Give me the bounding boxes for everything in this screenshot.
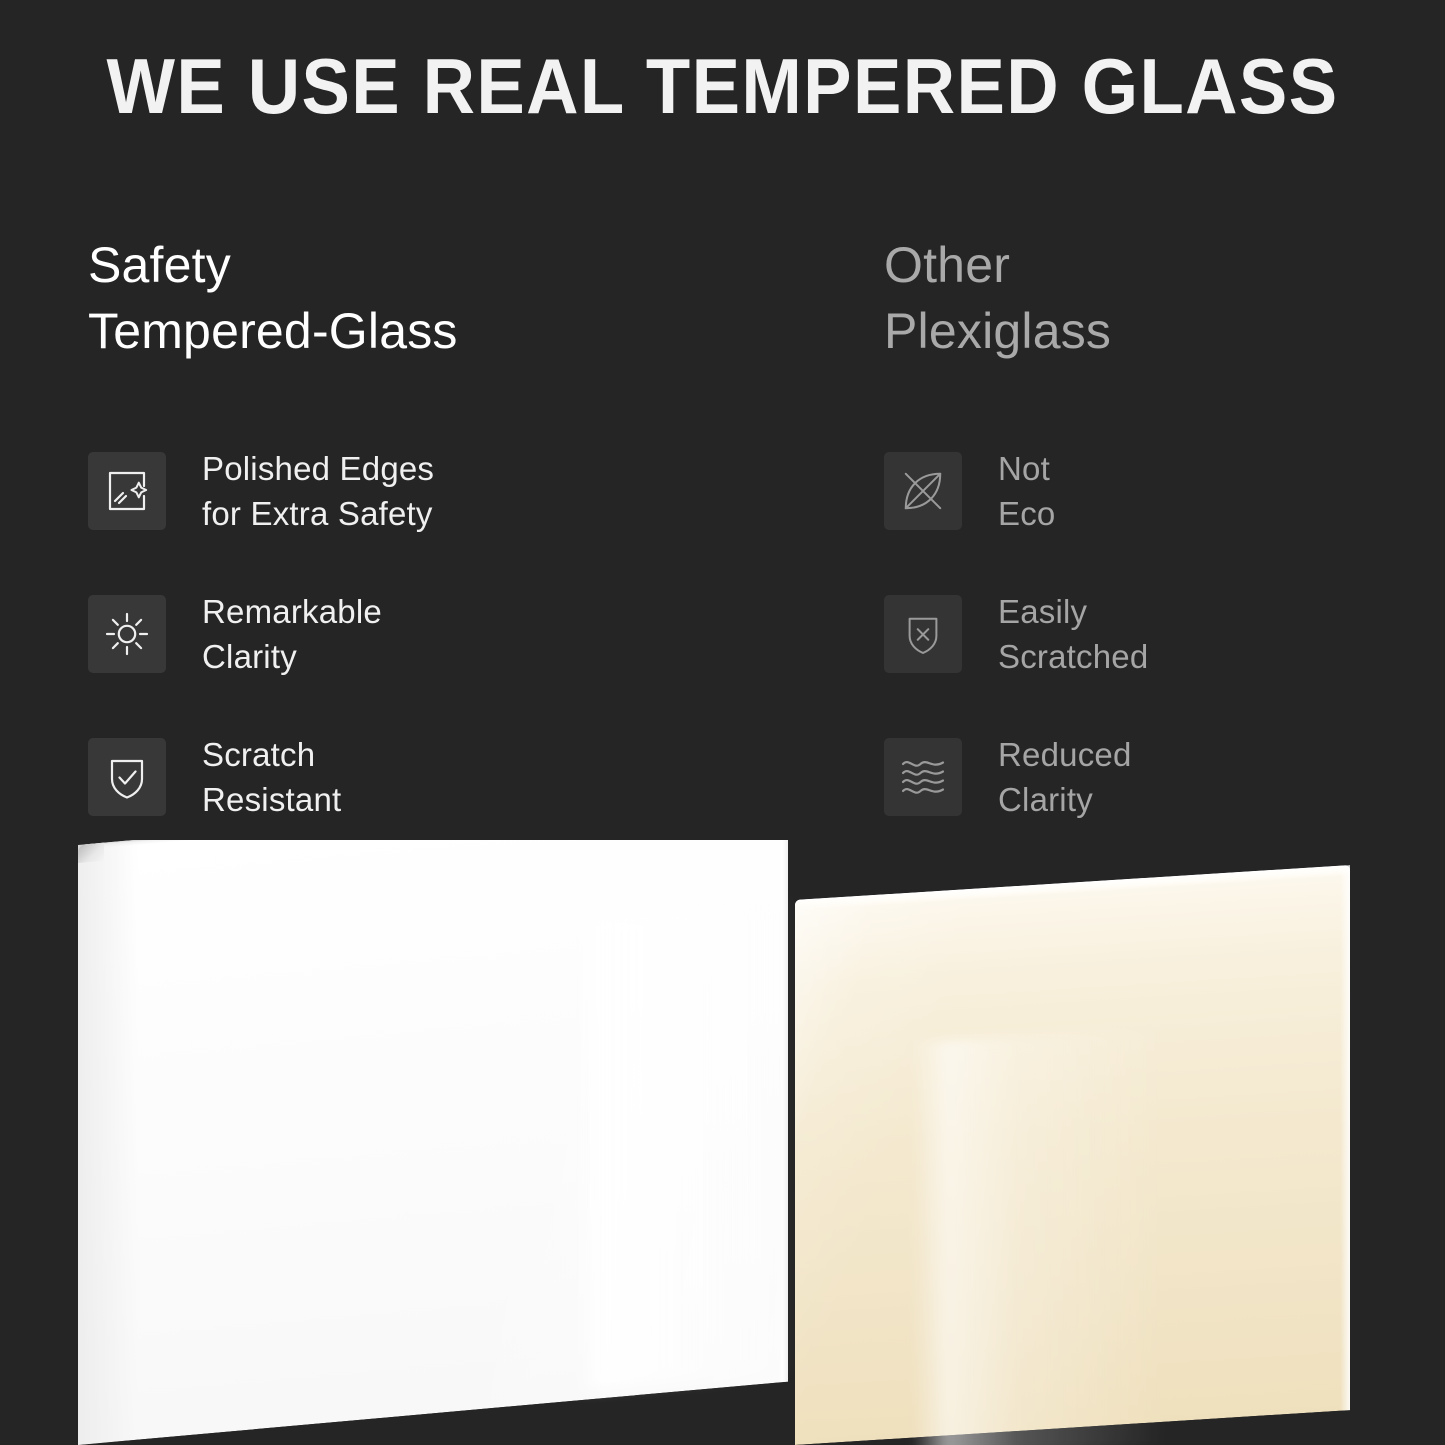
feature-label: Polished Edges for Extra Safety: [202, 446, 434, 536]
shield-x-icon: [884, 595, 962, 673]
leaf-crossed-out-icon: [884, 452, 962, 530]
wavy-lines-icon: [884, 738, 962, 816]
column-safety-tempered-glass: Safety Tempered-Glass Polished Edges for…: [88, 232, 808, 364]
column-heading-left: Safety Tempered-Glass: [88, 232, 808, 364]
feature-label: Reduced Clarity: [998, 732, 1132, 822]
feature-not-eco: Not Eco: [884, 452, 1148, 530]
feature-label: Remarkable Clarity: [202, 589, 382, 679]
feature-polished-edges: Polished Edges for Extra Safety: [88, 452, 434, 530]
shield-check-icon: [88, 738, 166, 816]
feature-reduced-clarity: Reduced Clarity: [884, 738, 1148, 816]
feature-list-right: Not Eco Easily Scratched: [884, 452, 1148, 816]
feature-label: Not Eco: [998, 446, 1055, 536]
glass-reflection: [578, 901, 790, 1390]
feature-remarkable-clarity: Remarkable Clarity: [88, 595, 434, 673]
glass-left-shading: [78, 840, 138, 1445]
page-title: WE USE REAL TEMPERED GLASS: [51, 38, 1395, 134]
feature-label: Easily Scratched: [998, 589, 1148, 679]
glass-corner-top-left: [78, 843, 104, 863]
feature-list-left: Polished Edges for Extra Safety: [88, 452, 434, 816]
column-heading-right: Other Plexiglass: [884, 232, 1424, 364]
plexiglass-reflection: [913, 1027, 1163, 1445]
feature-scratch-resistant: Scratch Resistant: [88, 738, 434, 816]
feature-label: Scratch Resistant: [202, 732, 341, 822]
sun-clarity-icon: [88, 595, 166, 673]
polished-glass-pane-icon: [88, 452, 166, 530]
tempered-glass-comparison-poster: WE USE REAL TEMPERED GLASS Safety Temper…: [0, 0, 1445, 1445]
feature-easily-scratched: Easily Scratched: [884, 595, 1148, 673]
column-other-plexiglass: Other Plexiglass Not Eco: [884, 232, 1424, 364]
tempered-glass-panel: [78, 840, 788, 1445]
plexiglass-panel: [795, 865, 1350, 1445]
glass-panels-illustration: [0, 840, 1445, 1445]
